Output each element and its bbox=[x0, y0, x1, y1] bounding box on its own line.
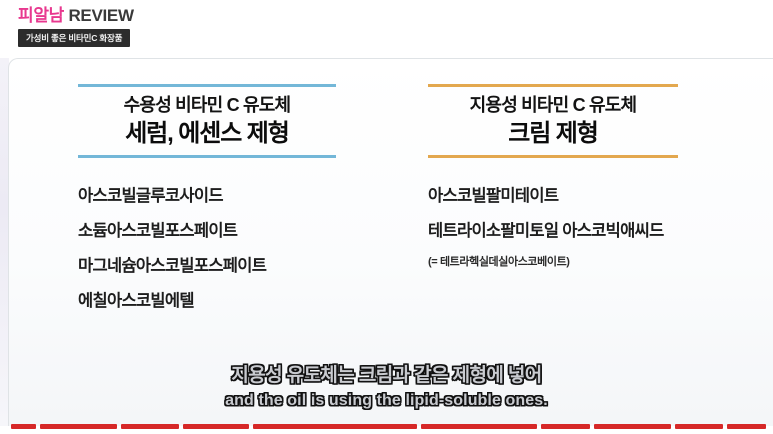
progress-segment[interactable] bbox=[727, 424, 766, 429]
column-left-heading: 수용성 비타민 C 유도체 세럼, 에센스 제형 bbox=[78, 84, 336, 158]
column-right-item-list: 아스코빌팔미테이트 테트라이소팔미토일 아스코빅애씨드 bbox=[428, 179, 758, 249]
column-left-item-list: 아스코빌글루코사이드 소듐아스코빌포스페이트 마그네슘아스코빌포스페이트 에칠아… bbox=[78, 179, 378, 319]
column-right-alias-note: (= 테트라헥실데실아스코베이트) bbox=[428, 251, 758, 273]
list-item: 아스코빌글루코사이드 bbox=[78, 179, 378, 214]
list-item: 아스코빌팔미테이트 bbox=[428, 179, 758, 214]
column-water-soluble: 수용성 비타민 C 유도체 세럼, 에센스 제형 아스코빌글루코사이드 소듐아스… bbox=[78, 84, 378, 319]
video-slide-screen: 피알남 REVIEW 가성비 좋은 비타민C 화장품 수용성 비타민 C 유도체… bbox=[0, 0, 773, 434]
column-right-heading: 지용성 비타민 C 유도체 크림 제형 bbox=[428, 84, 678, 158]
column-right-heading-line1: 지용성 비타민 C 유도체 bbox=[430, 93, 676, 117]
progress-segment[interactable] bbox=[541, 424, 589, 429]
column-left-heading-line2: 세럼, 에센스 제형 bbox=[80, 118, 334, 149]
list-item: 마그네슘아스코빌포스페이트 bbox=[78, 249, 378, 284]
brand-title: 피알남 REVIEW bbox=[18, 6, 198, 26]
progress-segment[interactable] bbox=[594, 424, 671, 429]
brand-name-rest: REVIEW bbox=[64, 6, 134, 25]
channel-branding: 피알남 REVIEW 가성비 좋은 비타민C 화장품 bbox=[18, 6, 198, 52]
progress-segment[interactable] bbox=[121, 424, 179, 429]
column-right-heading-line2: 크림 제형 bbox=[430, 118, 676, 149]
list-item: 소듐아스코빌포스페이트 bbox=[78, 214, 378, 249]
progress-segment[interactable] bbox=[11, 424, 36, 429]
chapter-progress-bar[interactable] bbox=[11, 424, 766, 429]
progress-segment[interactable] bbox=[40, 424, 117, 429]
progress-segment[interactable] bbox=[421, 424, 537, 429]
brand-name-highlight: 피알남 bbox=[18, 6, 64, 25]
progress-segment[interactable] bbox=[253, 424, 417, 429]
progress-segment[interactable] bbox=[183, 424, 249, 429]
brand-tagline: 가성비 좋은 비타민C 화장품 bbox=[18, 29, 130, 47]
list-item: 테트라이소팔미토일 아스코빅애씨드 bbox=[428, 214, 758, 249]
column-oil-soluble: 지용성 비타민 C 유도체 크림 제형 아스코빌팔미테이트 테트라이소팔미토일 … bbox=[428, 84, 758, 273]
progress-segment[interactable] bbox=[675, 424, 723, 429]
column-left-heading-line1: 수용성 비타민 C 유도체 bbox=[80, 93, 334, 117]
list-item: 에칠아스코빌에텔 bbox=[78, 284, 378, 319]
